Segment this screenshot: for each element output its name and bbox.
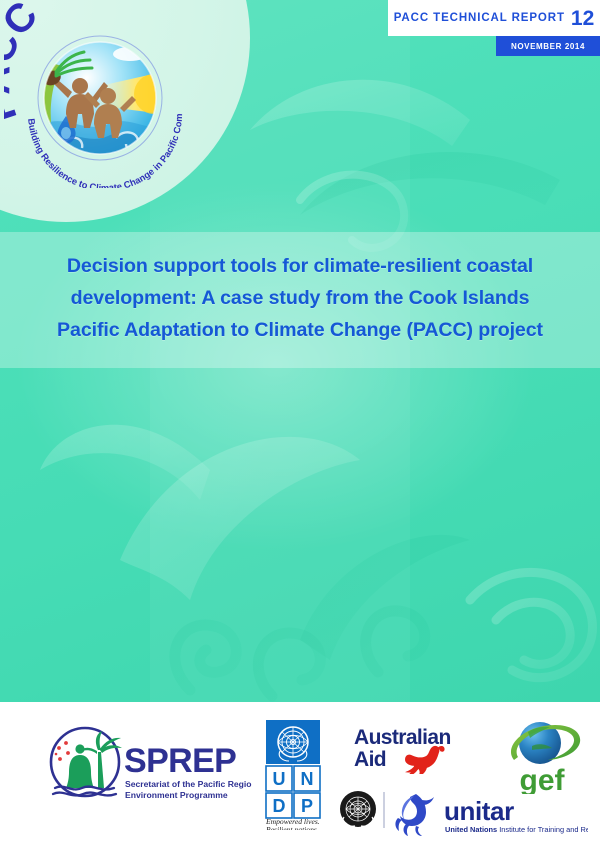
report-label: PACC TECHNICAL REPORT — [394, 12, 565, 24]
unitar-wordmark: unitar — [444, 796, 514, 826]
unitar-tagline: United Nations Institute for Training an… — [445, 825, 588, 834]
gef-logo: gef — [498, 716, 586, 794]
title-line-1: Decision support tools for climate-resil… — [0, 250, 600, 282]
undp-logo: U N D P Empowered lives. Resilient natio… — [258, 720, 328, 830]
pacc-logo: PACC Building Resilience to Climate Chan… — [4, 2, 200, 188]
page-title: Decision support tools for climate-resil… — [0, 250, 600, 346]
report-cover-page: PACC Building Resilience to Climate Chan… — [0, 0, 600, 848]
date-label: NOVEMBER 2014 — [511, 42, 585, 51]
undp-letter-p: P — [301, 796, 313, 816]
australian-word: Australian — [354, 726, 451, 749]
sprep-wordmark: SPREP — [124, 742, 236, 780]
undp-letter-n: N — [301, 769, 314, 789]
title-line-3: Pacific Adaptation to Climate Change (PA… — [0, 314, 600, 346]
sprep-tagline-2: Environment Programme — [125, 790, 228, 800]
unitar-bird-icon — [395, 794, 434, 836]
undp-letter-u: U — [273, 769, 286, 789]
date-badge: NOVEMBER 2014 — [496, 36, 600, 56]
kangaroo-icon — [405, 746, 445, 774]
sprep-tagline-1: Secretariat of the Pacific Regional — [125, 779, 252, 789]
footer-logo-bar: SPREP Secretariat of the Pacific Regiona… — [0, 702, 600, 848]
report-badge: PACC TECHNICAL REPORT 12 — [388, 0, 600, 36]
australian-aid-logo: Australian Aid — [352, 722, 482, 774]
undp-letter-d: D — [273, 796, 286, 816]
unitar-logo: unitar United Nations Institute for Trai… — [336, 788, 588, 838]
report-number: 12 — [571, 8, 594, 29]
aid-word: Aid — [354, 748, 386, 771]
un-emblem-icon — [340, 791, 376, 827]
sprep-logo: SPREP Secretariat of the Pacific Regiona… — [42, 726, 252, 812]
pacc-acronym-text: PACC — [4, 2, 46, 128]
undp-tagline-2: Resilient nations. — [265, 825, 319, 830]
title-line-2: development: A case study from the Cook … — [0, 282, 600, 314]
